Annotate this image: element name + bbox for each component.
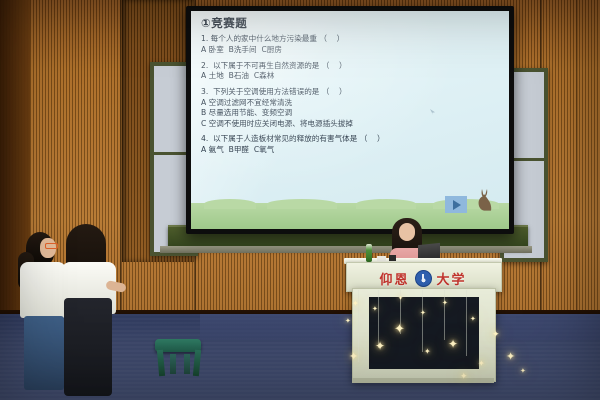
question-stem: 3. 下列关于空调使用方法错误的是 （ ）	[201, 87, 499, 97]
fairy-light-star: ✦	[394, 322, 405, 335]
fairy-light-star: ✦	[492, 330, 500, 339]
fairy-light-star: ✦	[372, 306, 378, 313]
projection-screen-frame: ①竞赛题 1. 每个人的家中什么地方污染最重 （ ） A 卧室 B洗手间 C厨房…	[186, 6, 514, 234]
rabbit-illustration	[476, 187, 493, 211]
microphone	[389, 255, 396, 261]
fairy-light-star: ✦	[349, 352, 358, 363]
quiz-question: 4. 以下属于人造板材常见的释放的有害气体是 （ ） A 氨气 B甲醛 C氧气	[201, 134, 499, 155]
fairy-light-star: ✦	[506, 352, 515, 363]
quiz-question: 3. 下列关于空调使用方法错误的是 （ ） A 空调过滤网不宜经常清洗 B 尽量…	[201, 87, 499, 129]
question-option: B 尽量选用节能、变频空调	[201, 108, 499, 118]
stool-leg	[170, 354, 176, 374]
podium-body	[352, 288, 496, 382]
light-wire	[422, 290, 423, 352]
fairy-light-star: ✦	[478, 360, 485, 368]
quiz-question: 1. 每个人的家中什么地方污染最重 （ ） A 卧室 B洗手间 C厨房	[201, 34, 499, 55]
question-option: A 卧室 B洗手间 C厨房	[201, 45, 499, 55]
presenter-face	[399, 223, 415, 241]
fairy-light-star: ✦	[470, 316, 476, 323]
grass-tuft	[356, 199, 416, 209]
light-wire	[466, 290, 467, 356]
podium-base	[352, 378, 494, 383]
fairy-light-star: ✦	[375, 340, 385, 352]
university-emblem-icon	[415, 270, 432, 287]
podium-front-panel	[369, 297, 479, 369]
student-overalls	[64, 298, 112, 396]
fairy-light-star: ✦	[448, 338, 458, 350]
chalk-tray	[160, 246, 532, 253]
fairy-light-star: ✦	[424, 348, 431, 356]
question-option: A 空调过滤网不宜经常清洗	[201, 98, 499, 108]
question-option: A 氨气 B甲醛 C氧气	[201, 145, 499, 155]
fairy-light-star: ✦	[398, 296, 403, 302]
desk-item	[377, 256, 386, 261]
fairy-light-star: ✦	[352, 300, 359, 308]
question-stem: 4. 以下属于人造板材常见的释放的有害气体是 （ ）	[201, 134, 499, 144]
projection-screen: ①竞赛题 1. 每个人的家中什么地方污染最重 （ ） A 卧室 B洗手间 C厨房…	[191, 11, 509, 229]
question-option: A 土地 B石油 C森林	[201, 71, 499, 81]
student-in-overalls	[56, 224, 128, 400]
question-stem: 1. 每个人的家中什么地方污染最重 （ ）	[201, 34, 499, 44]
quiz-question: 2. 以下属于不可再生自然资源的是 （ ） A 土地 B石油 C森林	[201, 61, 499, 82]
fairy-light-star: ✦	[460, 372, 468, 381]
slide-title: ①竞赛题	[201, 17, 499, 30]
logo-text-left: 仰恩	[379, 269, 409, 288]
fairy-light-star: ✦	[520, 368, 526, 375]
slide-content: ①竞赛题 1. 每个人的家中什么地方污染最重 （ ） A 卧室 B洗手间 C厨房…	[201, 17, 499, 161]
question-stem: 2. 以下属于不可再生自然资源的是 （ ）	[201, 61, 499, 71]
logo-text-right: 大学	[437, 269, 467, 288]
fairy-light-star: ✦	[442, 300, 448, 307]
grass-tuft	[267, 199, 337, 209]
grass-tuft	[204, 199, 256, 209]
stool-leg	[184, 354, 190, 374]
water-bottle	[366, 244, 372, 262]
play-button-icon[interactable]	[445, 196, 467, 213]
fairy-light-star: ✦	[345, 318, 351, 325]
question-option: C 空调不使用时应关闭电源、将电源插头拔掉	[201, 119, 499, 129]
play-triangle	[453, 200, 461, 210]
light-wire	[444, 290, 445, 340]
lecture-hall-photo: ①竞赛题 1. 每个人的家中什么地方污染最重 （ ） A 卧室 B洗手间 C厨房…	[0, 0, 600, 400]
fairy-light-star: ✦	[420, 310, 426, 317]
university-logo: 仰恩 大学	[346, 268, 500, 288]
